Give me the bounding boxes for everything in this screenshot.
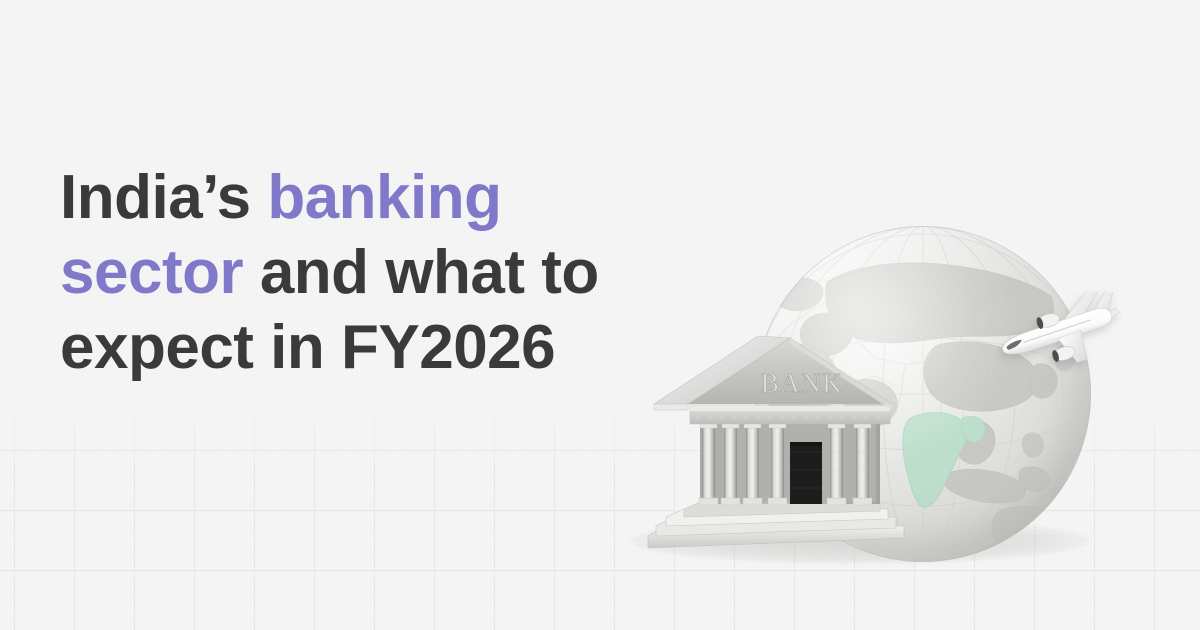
headline-segment-accent-banking: banking: [267, 163, 501, 232]
headline-line-1: India’s banking: [60, 163, 502, 232]
bank-sign-text: BANK: [761, 368, 844, 398]
headline-line-2: sector and what to expect in FY2026: [60, 238, 599, 382]
page-title: India’s banking sector and what to expec…: [60, 160, 620, 385]
bank-doorway: [790, 442, 822, 504]
headline-segment-accent-sector: sector: [60, 238, 243, 307]
hero-illustration: BANK: [620, 200, 1200, 630]
bank-steps: [648, 502, 904, 548]
bank-building-graphic: BANK: [640, 330, 915, 570]
headline-segment-dark: India’s: [60, 163, 267, 232]
hero-banner: India’s banking sector and what to expec…: [0, 0, 1200, 630]
airplane-graphic: [995, 292, 1125, 378]
